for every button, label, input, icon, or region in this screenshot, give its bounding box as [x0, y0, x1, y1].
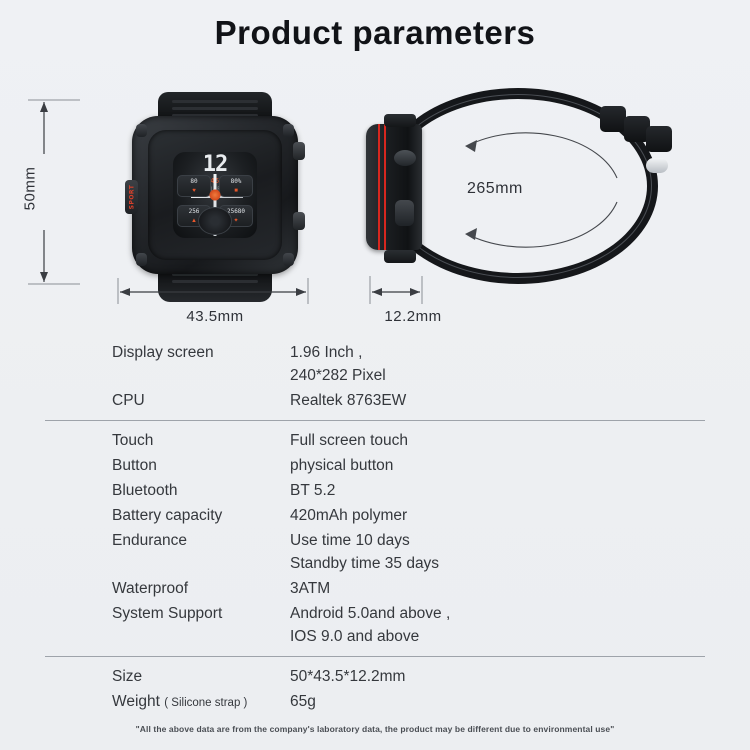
- heart-icon: ♥: [178, 188, 210, 194]
- product-diagram: 50mm SPORT: [0, 80, 750, 335]
- spec-label: Weight ( Silicone strap ): [0, 690, 290, 715]
- table-row: Button physical button: [0, 453, 750, 478]
- spec-group-display: Display screen 1.96 Inch , 240*282 Pixel…: [0, 333, 750, 420]
- spec-label-main: Weight: [112, 693, 160, 710]
- watch-side-lug-top: [384, 114, 416, 127]
- spec-value: 50*43.5*12.2mm: [290, 665, 750, 688]
- spec-value: 1.96 Inch , 240*282 Pixel: [290, 341, 750, 387]
- spec-value: BT 5.2: [290, 479, 750, 502]
- spec-value: Android 5.0and above , IOS 9.0 and above: [290, 602, 750, 648]
- spec-value: 65g: [290, 690, 750, 713]
- table-row: CPU Realtek 8763EW: [0, 388, 750, 413]
- watch-front-view: SPORT 12 18:45:08 SMART 80♥ 80%■: [120, 92, 310, 302]
- spec-value: physical button: [290, 454, 750, 477]
- watch-side-button: [395, 200, 414, 226]
- spec-label: Size: [0, 665, 290, 688]
- spec-label: System Support: [0, 602, 290, 625]
- spec-value: Realtek 8763EW: [290, 389, 750, 412]
- specifications-table: Display screen 1.96 Inch , 240*282 Pixel…: [0, 333, 750, 723]
- watchface-widget-heart: 80♥: [177, 175, 211, 197]
- spec-label: Endurance: [0, 529, 290, 552]
- watch-hand-hub: [210, 190, 221, 201]
- strap-circumference-label: 265mm: [467, 180, 523, 198]
- spec-value: Use time 10 days Standby time 35 days: [290, 529, 750, 575]
- spec-label: CPU: [0, 389, 290, 412]
- table-row: Battery capacity 420mAh polymer: [0, 503, 750, 528]
- spec-value: Full screen touch: [290, 429, 750, 452]
- width-dimension-arrows: [110, 276, 320, 306]
- spec-group-physical: Size 50*43.5*12.2mm Weight ( Silicone st…: [0, 657, 750, 723]
- watch-side-view: 265mm: [372, 88, 672, 303]
- watchface-widget-battery: 80%■: [219, 175, 253, 197]
- watchface-subdial: [198, 207, 232, 235]
- watch-side-knob: [394, 150, 416, 166]
- battery-icon: ■: [220, 188, 252, 194]
- watch-crown-bottom: [293, 212, 305, 230]
- thickness-dimension-label: 12.2mm: [358, 308, 468, 325]
- width-dimension-label: 43.5mm: [110, 308, 320, 325]
- sport-button: SPORT: [125, 180, 138, 214]
- table-row: Display screen 1.96 Inch , 240*282 Pixel: [0, 340, 750, 388]
- spec-value: 3ATM: [290, 577, 750, 600]
- table-row: Waterproof 3ATM: [0, 576, 750, 601]
- height-dimension-label: 50mm: [21, 167, 38, 211]
- spec-label: Touch: [0, 429, 290, 452]
- watch-side-body: [366, 124, 422, 250]
- table-row: Size 50*43.5*12.2mm: [0, 664, 750, 689]
- table-row: Endurance Use time 10 days Standby time …: [0, 528, 750, 576]
- disclaimer-text: "All the above data are from the company…: [0, 724, 750, 734]
- table-row: Weight ( Silicone strap ) 65g: [0, 689, 750, 716]
- spec-label: Battery capacity: [0, 504, 290, 527]
- spec-group-features: Touch Full screen touch Button physical …: [0, 421, 750, 656]
- watch-case: SPORT 12 18:45:08 SMART 80♥ 80%■: [132, 116, 298, 274]
- spec-label: Bluetooth: [0, 479, 290, 502]
- spec-label: Display screen: [0, 341, 290, 364]
- spec-value: 420mAh polymer: [290, 504, 750, 527]
- spec-label: Button: [0, 454, 290, 477]
- sport-button-label: SPORT: [128, 185, 135, 210]
- strap-circumference-arrows: [427, 116, 657, 266]
- watch-screen: 12 18:45:08 SMART 80♥ 80%■ 256▲: [173, 152, 257, 238]
- watch-crown-top: [293, 142, 305, 160]
- watch-side-lug-bottom: [384, 250, 416, 263]
- table-row: Touch Full screen touch: [0, 428, 750, 453]
- thickness-dimension-arrows: [362, 276, 472, 306]
- product-parameters-page: Product parameters 50mm: [0, 0, 750, 750]
- spec-label: Waterproof: [0, 577, 290, 600]
- watch-bezel: 12 18:45:08 SMART 80♥ 80%■ 256▲: [148, 130, 282, 260]
- table-row: System Support Android 5.0and above , IO…: [0, 601, 750, 649]
- page-title: Product parameters: [0, 14, 750, 52]
- spec-label-note: ( Silicone strap ): [164, 697, 247, 709]
- watchface-hour: 12: [173, 154, 257, 176]
- table-row: Bluetooth BT 5.2: [0, 478, 750, 503]
